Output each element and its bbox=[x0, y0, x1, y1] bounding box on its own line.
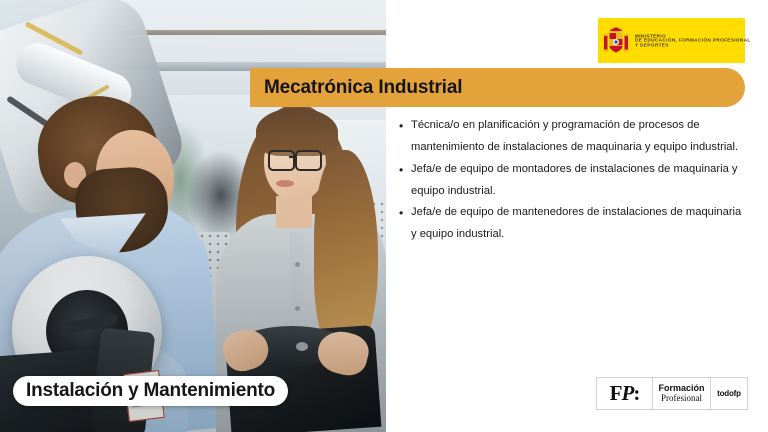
ministry-banner: MINISTERIO DE EDUCACIÓN, FORMACIÓN PROFE… bbox=[598, 18, 745, 63]
ministry-line-3: Y DEPORTES bbox=[635, 42, 751, 48]
fp-letter-f: F bbox=[610, 381, 622, 405]
course-title-bar: Mecatrónica Industrial bbox=[250, 68, 745, 107]
family-caption-label: Instalación y Mantenimiento bbox=[26, 380, 275, 402]
job-roles-list: Técnica/o en planificación y programació… bbox=[398, 115, 746, 246]
spain-coat-of-arms-icon bbox=[603, 26, 629, 56]
todofp-text: todofp bbox=[717, 389, 741, 398]
list-item: Jefa/e de equipo de mantenedores de inst… bbox=[398, 202, 746, 246]
fp-logo-name: Formación Profesional bbox=[653, 378, 711, 409]
slide-root: Instalación y Mantenimiento bbox=[0, 0, 768, 432]
todofp-portal-label: todofp bbox=[711, 378, 747, 409]
list-item: Jefa/e de equipo de montadores de instal… bbox=[398, 159, 746, 203]
fp-logo: FP: Formación Profesional todofp bbox=[596, 377, 748, 410]
fp-name-line-2: Profesional bbox=[661, 394, 702, 403]
family-caption-pill: Instalación y Mantenimiento bbox=[13, 376, 288, 406]
ministry-text-block: MINISTERIO DE EDUCACIÓN, FORMACIÓN PROFE… bbox=[635, 34, 723, 47]
background-photo bbox=[0, 0, 386, 432]
photo-overlay-shade bbox=[0, 0, 386, 432]
fp-logo-mark: FP: bbox=[597, 378, 653, 409]
fp-letter-p: P bbox=[622, 381, 634, 405]
list-item: Técnica/o en planificación y programació… bbox=[398, 115, 746, 159]
fp-colon: : bbox=[633, 381, 639, 405]
course-title: Mecatrónica Industrial bbox=[264, 77, 462, 99]
